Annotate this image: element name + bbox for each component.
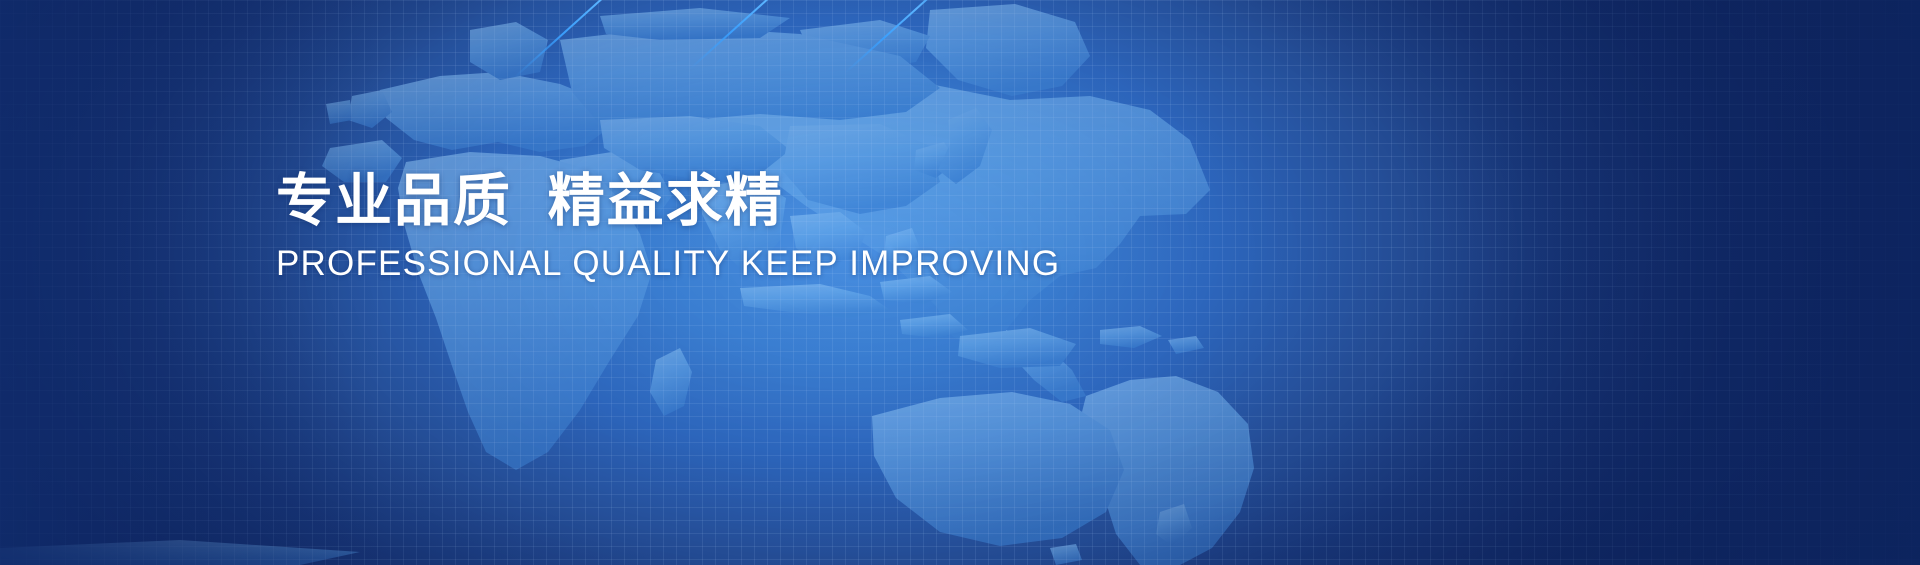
headline-chinese: 专业品质 精益求精: [276, 168, 1176, 235]
light-streak-2: [689, 0, 828, 70]
banner-text-block: 专业品质 精益求精 PROFESSIONAL QUALITY KEEP IMPR…: [276, 168, 1176, 284]
hero-banner: 专业品质 精益求精 PROFESSIONAL QUALITY KEEP IMPR…: [0, 0, 1920, 565]
light-streak-3: [844, 0, 975, 74]
light-streak-1: [514, 0, 671, 78]
subheadline-english: PROFESSIONAL QUALITY KEEP IMPROVING: [276, 245, 1176, 284]
